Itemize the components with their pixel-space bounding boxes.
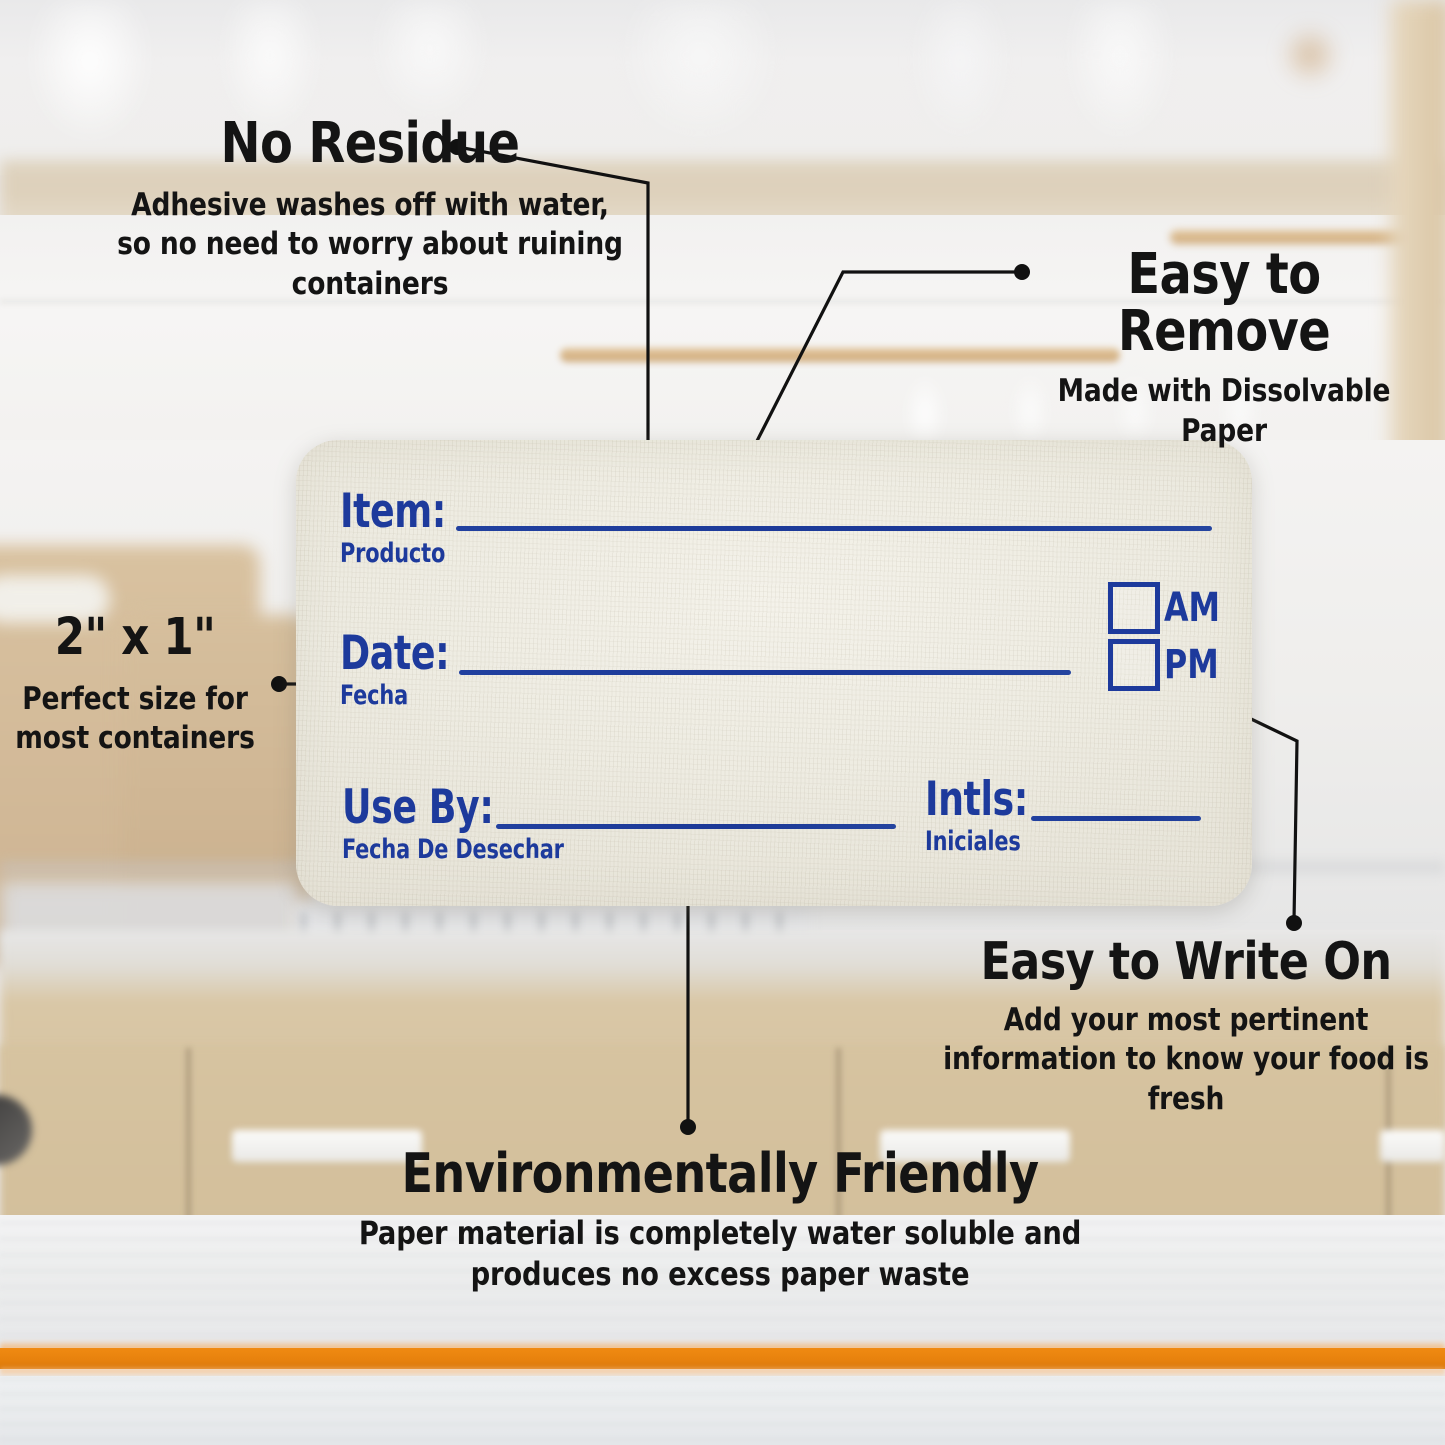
callout-size-body-line-1: Perfect size for bbox=[7, 680, 264, 719]
label-field-intls: Intls: Iniciales bbox=[925, 776, 1045, 855]
label-write-line-intls[interactable] bbox=[1031, 816, 1201, 821]
callout-environmentally-friendly: Environmentally Friendly Paper material … bbox=[330, 1146, 1110, 1294]
callout-easy-to-write-on-body-line-1: Add your most pertinent bbox=[943, 1001, 1429, 1040]
infographic-canvas: Item: Producto Date: Fecha AM PM Use By:… bbox=[0, 0, 1445, 1445]
callout-easy-to-write-on-title: Easy to Write On bbox=[943, 936, 1429, 989]
callout-easy-to-write-on-body-line-3: fresh bbox=[943, 1080, 1429, 1119]
leader-line-easy-to-write-on bbox=[1249, 718, 1297, 921]
label-checkbox-am[interactable] bbox=[1108, 582, 1160, 634]
callout-easy-to-remove-body-line-2: Paper bbox=[1019, 412, 1429, 451]
label-field-item-en: Item: bbox=[340, 488, 446, 535]
callout-environmentally-friendly-body-line-2: produces no excess paper waste bbox=[350, 1254, 1091, 1295]
label-field-use-by-en: Use By: bbox=[342, 784, 493, 831]
callout-no-residue-body-line-2: so no need to worry about ruining bbox=[76, 225, 665, 264]
label-field-date-en: Date: bbox=[340, 630, 449, 677]
label-field-date: Date: Fecha bbox=[340, 630, 467, 709]
leader-dot-environmentally-friendly bbox=[680, 1119, 696, 1135]
label-write-line-item[interactable] bbox=[456, 526, 1212, 531]
callout-size-body-line-2: most containers bbox=[7, 719, 264, 758]
label-field-intls-es: Iniciales bbox=[925, 828, 1028, 855]
callout-environmentally-friendly-body-line-1: Paper material is completely water solub… bbox=[350, 1213, 1091, 1254]
label-field-date-es: Fecha bbox=[340, 682, 449, 709]
callout-environmentally-friendly-title: Environmentally Friendly bbox=[350, 1146, 1091, 1201]
label-checkbox-pm[interactable] bbox=[1108, 639, 1160, 691]
label-write-line-date[interactable] bbox=[459, 670, 1071, 675]
callout-no-residue-title: No Residue bbox=[76, 115, 665, 172]
leader-line-easy-to-remove bbox=[757, 272, 1021, 441]
callout-no-residue-body-line-1: Adhesive washes off with water, bbox=[76, 186, 665, 225]
callout-easy-to-remove-title: Easy to Remove bbox=[1019, 246, 1429, 360]
callout-no-residue: No Residue Adhesive washes off with wate… bbox=[60, 115, 680, 304]
callout-size: 2" x 1" Perfect size for most containers bbox=[0, 612, 270, 759]
label-field-use-by-es: Fecha De Desechar bbox=[342, 836, 564, 863]
label-field-intls-en: Intls: bbox=[925, 776, 1028, 823]
callout-easy-to-write-on: Easy to Write On Add your most pertinent… bbox=[930, 936, 1442, 1119]
label-checkbox-pm-label: PM bbox=[1164, 645, 1219, 685]
callout-size-title: 2" x 1" bbox=[7, 612, 264, 664]
callout-no-residue-body-line-3: containers bbox=[76, 265, 665, 304]
label-checkbox-am-label: AM bbox=[1164, 588, 1220, 628]
callout-easy-to-write-on-body-line-2: information to know your food is bbox=[943, 1040, 1429, 1079]
label-field-item: Item: Producto bbox=[340, 488, 463, 567]
food-rotation-label: Item: Producto Date: Fecha AM PM Use By:… bbox=[296, 440, 1252, 906]
leader-dot-size bbox=[271, 676, 287, 692]
leader-dot-easy-to-write-on bbox=[1286, 915, 1302, 931]
callout-easy-to-remove-body-line-1: Made with Dissolvable bbox=[1019, 372, 1429, 411]
callout-easy-to-remove: Easy to Remove Made with Dissolvable Pap… bbox=[1008, 246, 1440, 451]
label-write-line-use-by[interactable] bbox=[496, 824, 896, 829]
label-field-item-es: Producto bbox=[340, 540, 446, 567]
